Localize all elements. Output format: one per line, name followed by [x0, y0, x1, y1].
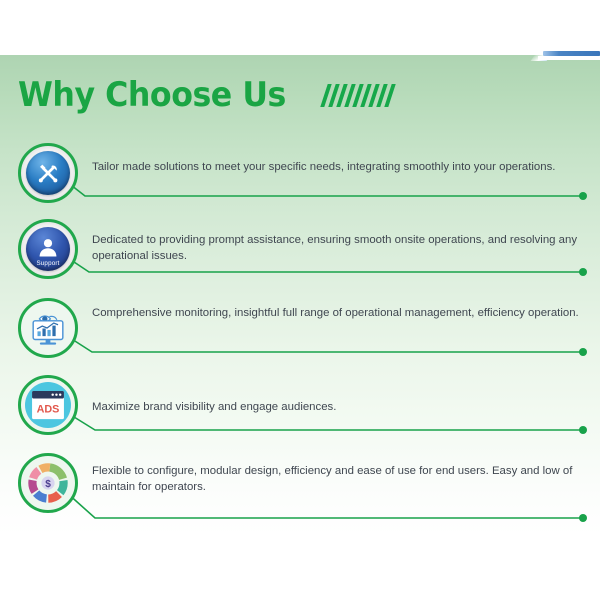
connector-dot-5 [579, 514, 587, 522]
connector-line-5 [0, 0, 600, 600]
infographic-page: Why Choose Us [0, 0, 600, 600]
donut-chart-dollar-icon[interactable]: $ [18, 453, 78, 513]
donut-glyph-icon: $ [26, 461, 70, 505]
feature-list: Tailor made solutions to meet your speci… [0, 0, 600, 600]
svg-text:$: $ [45, 479, 51, 490]
feature-text-5: Flexible to configure, modular design, e… [92, 463, 582, 495]
